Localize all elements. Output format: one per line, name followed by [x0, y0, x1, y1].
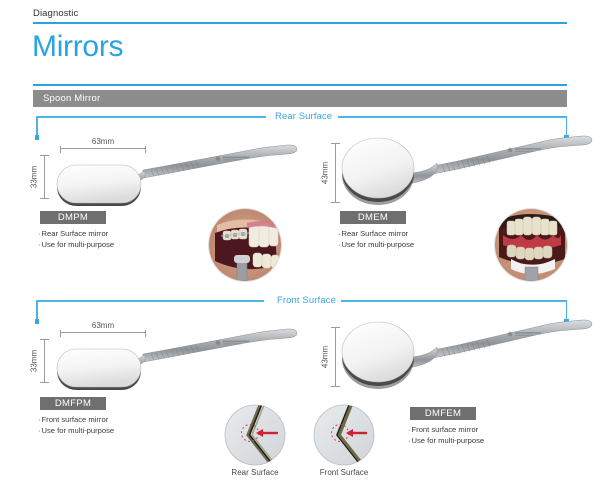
- front-surface-illustration: [311, 404, 377, 466]
- dimension-cap-bottom: [40, 382, 49, 383]
- diagram-caption-rear: Rear Surface: [222, 468, 288, 477]
- product-bullets-dmfem: Front surface mirror Use for multi-purpo…: [408, 425, 484, 446]
- product-bullets-dmfpm: Front surface mirror Use for multi-purpo…: [38, 415, 114, 436]
- dimension-height-label: 33mm: [30, 350, 39, 372]
- catalog-page: Diagnostic Mirrors Spoon Mirror Rear Sur…: [0, 0, 600, 489]
- dimension-line: [335, 327, 336, 387]
- bullet-item: Front surface mirror: [408, 425, 484, 436]
- dimension-line: [44, 339, 45, 383]
- dimension-cap-top: [40, 339, 49, 340]
- dimension-cap-top: [40, 155, 49, 156]
- product-code-badge-dmfpm: DMFPM: [40, 397, 106, 410]
- dimension-height-label: 43mm: [321, 346, 330, 368]
- bullet-item: Use for multi-purpose: [408, 436, 484, 447]
- product-code-badge-dmfem: DMFEM: [410, 407, 476, 420]
- diagram-caption-front: Front Surface: [311, 468, 377, 477]
- mirror-instrument-dmfem: [338, 314, 593, 394]
- dimension-height-label: 43mm: [321, 162, 330, 184]
- mirror-instrument-dmfpm: [55, 324, 300, 389]
- rear-surface-illustration: [222, 404, 288, 466]
- surface-diagram-rear: Rear Surface: [222, 404, 288, 471]
- bullet-item: Use for multi-purpose: [38, 426, 114, 437]
- surface-diagram-front: Front Surface: [311, 404, 377, 471]
- bullet-item: Front surface mirror: [38, 415, 114, 426]
